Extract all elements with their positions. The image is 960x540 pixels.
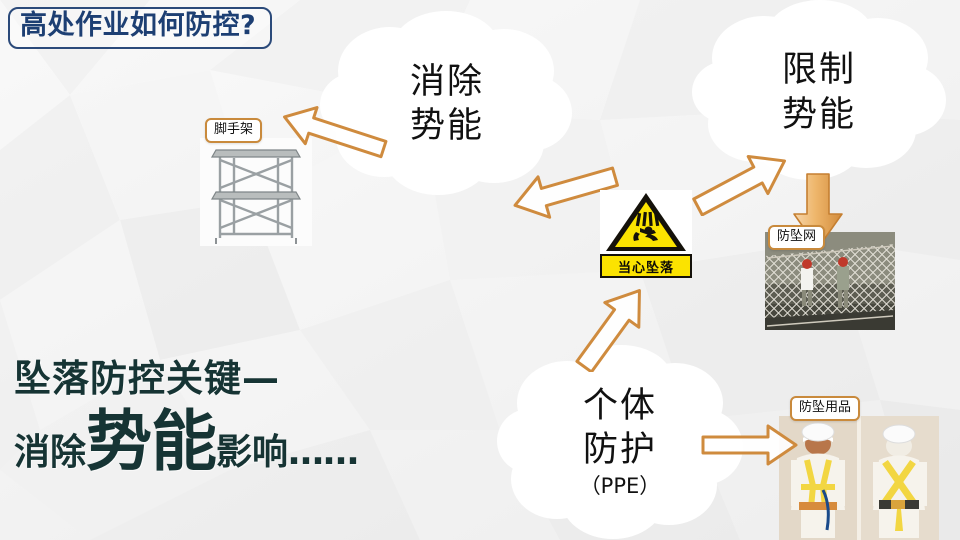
photo-harness: [779, 416, 939, 540]
tag-scaffold: 脚手架: [205, 118, 262, 143]
headline-line1: 坠落防控关键—: [14, 360, 534, 397]
headline-suffix: 影响: [216, 432, 288, 473]
headline-prefix: 消除: [14, 432, 86, 473]
tag-harness: 防坠用品: [790, 396, 860, 421]
headline-line2: 消除势能影响……: [14, 409, 534, 475]
safety-harness-photo: [779, 416, 939, 540]
arrow-eliminate-to-scaffold: [276, 104, 392, 162]
headline-dots: ……: [288, 432, 358, 473]
warning-sign-pictogram-area: [600, 190, 692, 254]
warning-sign: 当心坠落: [600, 190, 692, 278]
falling-person-icon: [604, 191, 688, 253]
arrow-sign-to-ppe: [558, 282, 668, 372]
warning-sign-caption: 当心坠落: [600, 254, 692, 278]
slide-canvas: 高处作业如何防控? 消除 势能: [0, 0, 960, 540]
headline-emphasis: 势能: [86, 403, 216, 480]
tag-net: 防坠网: [768, 225, 825, 250]
arrow-ppe-to-harness: [698, 418, 802, 472]
arrow-sign-to-limit: [688, 150, 798, 216]
page-title: 高处作业如何防控?: [20, 11, 256, 41]
page-title-box: 高处作业如何防控?: [8, 7, 272, 49]
headline: 坠落防控关键— 消除势能影响……: [14, 360, 534, 475]
